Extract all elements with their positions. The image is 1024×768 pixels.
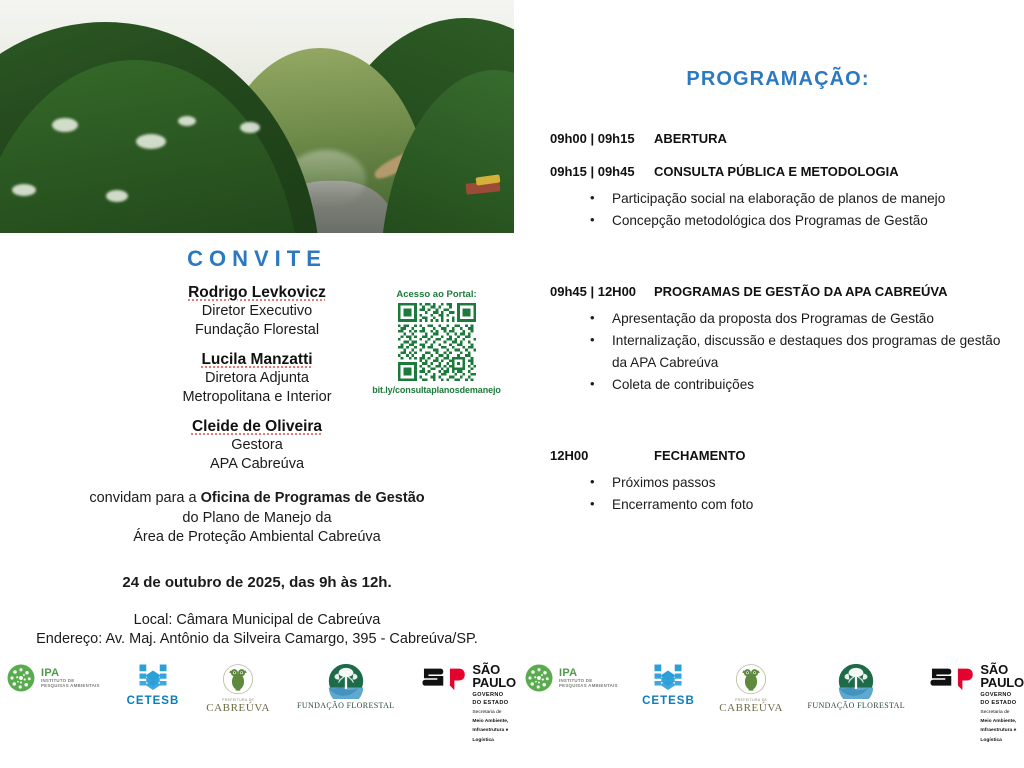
schedule-bullet: Concepção metodológica dos Programas de … [590,210,1018,232]
logo-bar-left: IPA INSTITUTO DE PESQUISAS AMBIENTAIS CE… [6,663,516,744]
program-column: PROGRAMAÇÃO: 09h00 | 09h15ABERTURA 09h15… [532,0,1024,768]
organizer-org-line: APA Cabreúva [4,455,510,474]
sp-secretariat-line1: Secretaria de [980,710,1024,716]
schedule-group: 09h15 | 09h45CONSULTA PÚBLICA E METODOLO… [550,164,1018,232]
photo-blossom [136,134,166,149]
photo-blossom [52,118,78,132]
schedule-group: 09h45 | 12H00PROGRAMAS DE GESTÃO DA APA … [550,284,1018,396]
ipa-wordmark: IPA INSTITUTO DE PESQUISAS AMBIENTAIS [559,668,618,689]
sp-secretariat-line4: Logística [472,738,516,744]
schedule-label: CONSULTA PÚBLICA E METODOLOGIA [654,164,899,179]
sp-secretariat-line3: Infraestrutura e [980,728,1024,734]
fundacao-florestal-tree-icon [328,663,364,699]
fundacao-florestal-wordmark: FUNDAÇÃO FLORESTAL [297,701,394,710]
schedule-bullets: Participação social na elaboração de pla… [550,188,1018,232]
sp-line-paulo: PAULO [980,676,1024,689]
sp-gov-line1: GOVERNO [980,693,1024,699]
program-title: PROGRAMAÇÃO: [532,68,1024,91]
invite-column: CONVITE Rodrigo Levkovicz Diretor Execut… [0,0,514,768]
logo-sao-paulo: SÃO PAULO GOVERNO DO ESTADO Secretaria d… [929,663,1024,744]
invitation-body: convidam para a Oficina de Programas de … [0,489,514,547]
logo-cetesb: CETESB [127,663,180,707]
schedule-heading: 12H00FECHAMENTO [550,448,1018,463]
qr-short-url[interactable]: bit.ly/consultaplanosdemanejo [364,385,509,395]
ipa-wordmark: IPA INSTITUTO DE PESQUISAS AMBIENTAIS [41,668,100,689]
organizer-role-line: Gestora [4,436,510,455]
sp-secretariat-line3: Infraestrutura e [472,728,516,734]
ipa-subtitle-line2: PESQUISAS AMBIENTAIS [559,684,618,689]
venue-block: Local: Câmara Municipal de Cabreúva Ende… [0,611,514,650]
invitation-page: CONVITE Rodrigo Levkovicz Diretor Execut… [0,0,1024,768]
cetesb-wordmark: CETESB [127,695,180,707]
sp-line-sao: SÃO [472,663,516,676]
schedule-spacer [550,414,1018,448]
photo-blossom [240,122,260,133]
ipa-leaf-globe-icon [524,663,554,693]
program-schedule: 09h00 | 09h15ABERTURA 09h15 | 09h45CONSU… [532,131,1024,516]
schedule-bullet: Próximos passos [590,472,1018,494]
cabreuva-owl-icon [220,663,256,697]
logo-cabreuva: PREFEITURA DE CABREÚVA [719,663,783,714]
schedule-bullet: Encerramento com foto [590,494,1018,516]
photo-blossom [106,190,128,202]
hero-landscape-photo [0,0,514,233]
logo-cetesb: CETESB [642,663,695,707]
schedule-heading: 09h00 | 09h15ABERTURA [550,131,1018,146]
schedule-group: 12H00FECHAMENTO Próximos passos Encerram… [550,448,1018,516]
schedule-heading: 09h45 | 12H00PROGRAMAS DE GESTÃO DA APA … [550,284,1018,299]
sp-secretariat-line4: Logística [980,738,1024,744]
schedule-time: 09h00 | 09h15 [550,131,654,146]
logo-bar-right: IPA INSTITUTO DE PESQUISAS AMBIENTAIS CE… [524,663,1024,744]
sp-gov-line2: DO ESTADO [980,701,1024,707]
venue-name: Local: Câmara Municipal de Cabreúva [134,612,381,628]
cabreuva-wordmark: CABREÚVA [719,702,783,714]
fundacao-florestal-tree-icon [838,663,874,699]
sp-line-paulo: PAULO [472,676,516,689]
sp-gov-line1: GOVERNO [472,693,516,699]
schedule-label: PROGRAMAS DE GESTÃO DA APA CABREÚVA [654,284,947,299]
schedule-spacer [550,250,1018,284]
invitation-body-line2: do Plano de Manejo da [182,510,331,526]
logo-fundacao-florestal: FUNDAÇÃO FLORESTAL [297,663,394,710]
cetesb-wordmark: CETESB [642,695,695,707]
sp-secretariat-line2: Meio Ambiente, [980,719,1024,725]
ipa-subtitle-line2: PESQUISAS AMBIENTAIS [41,684,100,689]
schedule-heading: 09h15 | 09h45CONSULTA PÚBLICA E METODOLO… [550,164,1018,179]
sp-wordmark: SÃO PAULO GOVERNO DO ESTADO Secretaria d… [980,663,1024,744]
sp-secretariat-line2: Meio Ambiente, [472,719,516,725]
schedule-label: FECHAMENTO [654,448,745,463]
invite-title: CONVITE [0,246,514,272]
organizers-block: Rodrigo Levkovicz Diretor Executivo Fund… [0,284,514,473]
schedule-bullets: Apresentação da proposta dos Programas d… [550,308,1018,396]
sp-government-icon [929,666,975,692]
cabreuva-owl-icon [733,663,769,697]
sp-wordmark: SÃO PAULO GOVERNO DO ESTADO Secretaria d… [472,663,516,744]
sp-secretariat-line1: Secretaria de [472,710,516,716]
schedule-time: 09h45 | 12H00 [550,284,654,299]
sp-line-sao: SÃO [980,663,1024,676]
fundacao-florestal-wordmark: FUNDAÇÃO FLORESTAL [808,701,905,710]
sp-government-icon [421,666,467,692]
schedule-time: 09h15 | 09h45 [550,164,654,179]
cetesb-wave-icon [651,663,685,693]
photo-blossom [12,184,36,196]
invitation-prefix: convidam para a [89,490,200,506]
organizer-entry: Cleide de Oliveira Gestora APA Cabreúva [4,418,510,473]
logo-cabreuva: PREFEITURA DE CABREÚVA [206,663,270,714]
logo-sao-paulo: SÃO PAULO GOVERNO DO ESTADO Secretaria d… [421,663,516,744]
event-date: 24 de outubro de 2025, das 9h às 12h. [0,574,514,591]
schedule-bullet: Internalização, discussão e destaques do… [590,330,1018,374]
sp-gov-line2: DO ESTADO [472,701,516,707]
schedule-label: ABERTURA [654,131,727,146]
logo-ipa: IPA INSTITUTO DE PESQUISAS AMBIENTAIS [6,663,100,693]
schedule-time: 12H00 [550,448,654,463]
schedule-bullet: Participação social na elaboração de pla… [590,188,1018,210]
logo-ipa: IPA INSTITUTO DE PESQUISAS AMBIENTAIS [524,663,618,693]
invitation-body-line3: Área de Proteção Ambiental Cabreúva [133,529,380,545]
organizer-name: Cleide de Oliveira [4,418,510,436]
schedule-bullets: Próximos passos Encerramento com foto [550,472,1018,516]
qr-label: Acesso ao Portal: [364,289,509,300]
qr-code-icon[interactable] [398,303,476,381]
ipa-leaf-globe-icon [6,663,36,693]
invitation-event-name: Oficina de Programas de Gestão [201,490,425,506]
venue-address: Endereço: Av. Maj. Antônio da Silveira C… [36,631,478,647]
schedule-bullet: Apresentação da proposta dos Programas d… [590,308,1018,330]
schedule-group: 09h00 | 09h15ABERTURA [550,131,1018,146]
cabreuva-wordmark: CABREÚVA [206,702,270,714]
schedule-bullet: Coleta de contribuições [590,374,1018,396]
qr-portal-block[interactable]: Acesso ao Portal: [364,289,509,395]
cetesb-wave-icon [136,663,170,693]
photo-blossom [178,116,196,126]
logo-fundacao-florestal: FUNDAÇÃO FLORESTAL [808,663,905,710]
